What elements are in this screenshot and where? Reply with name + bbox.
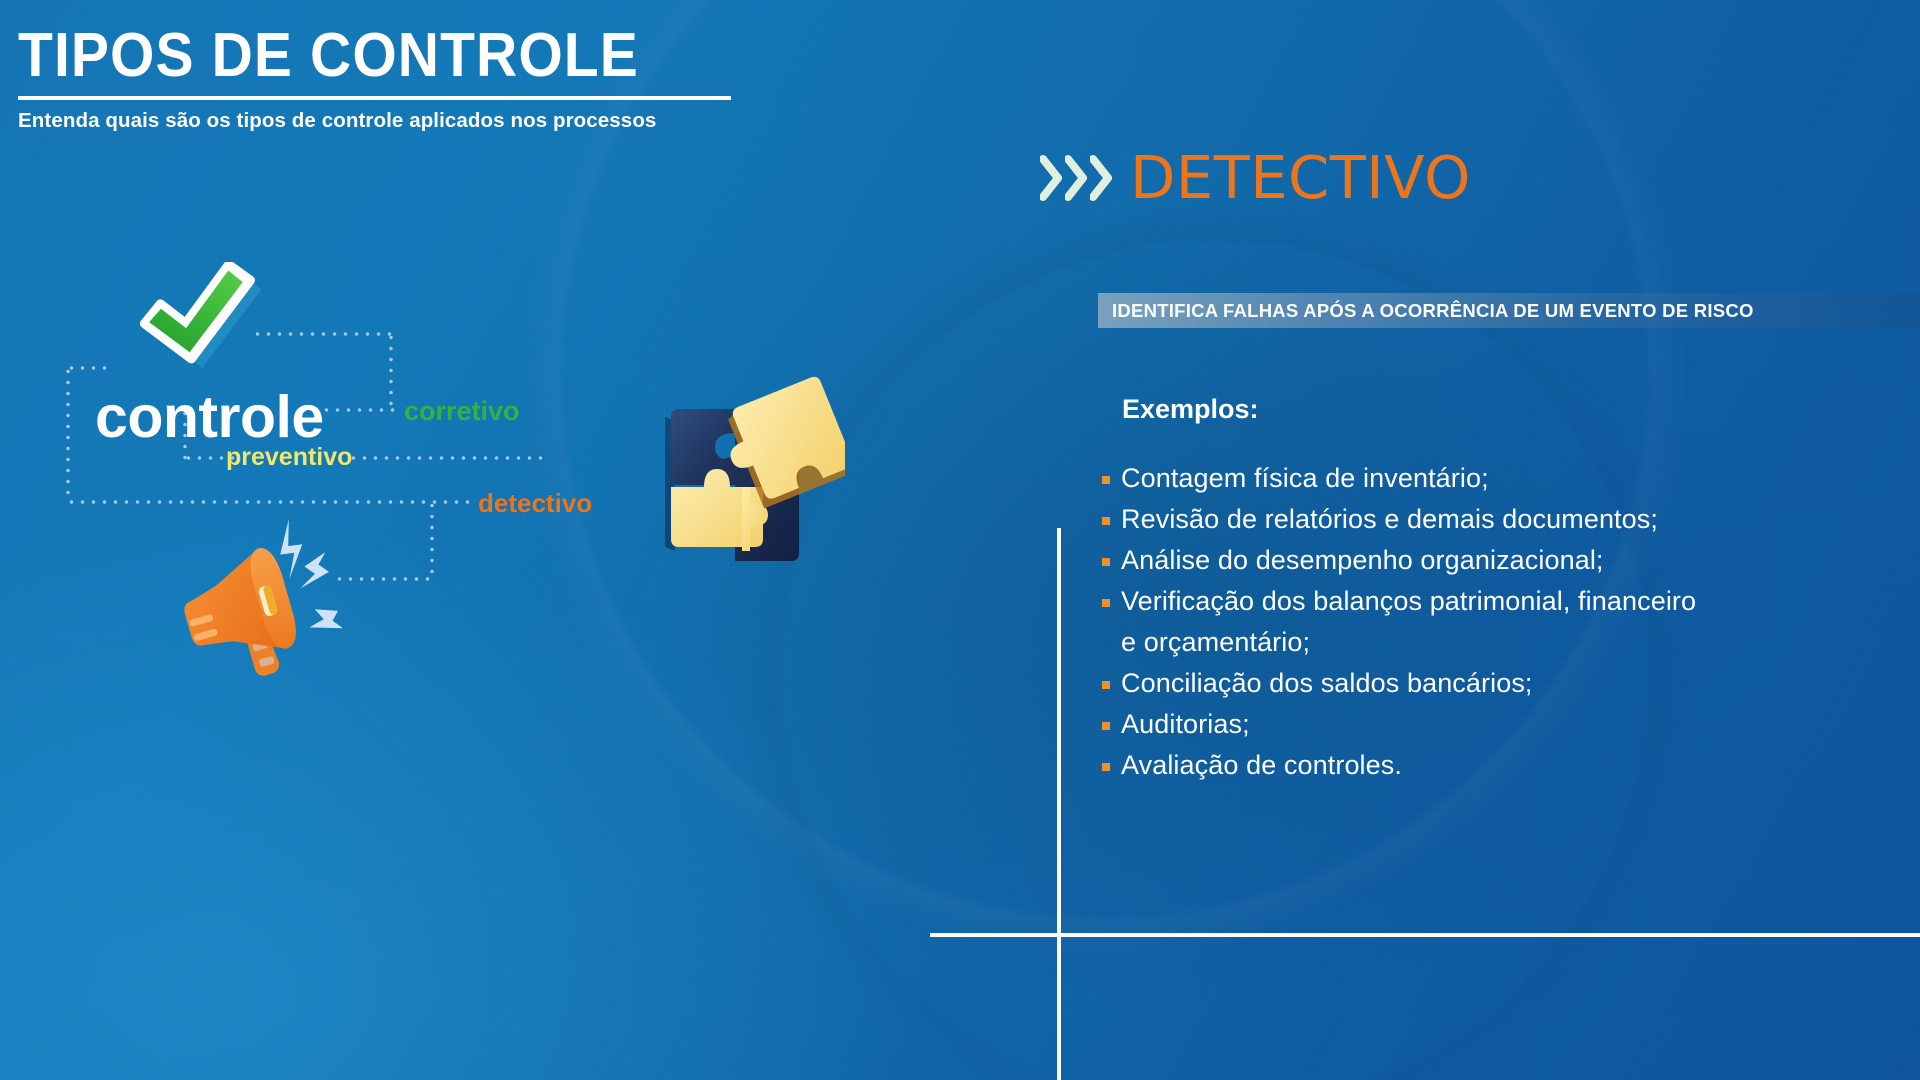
section-banner-text: IDENTIFICA FALHAS APÓS A OCORRÊNCIA DE U… <box>1098 300 1754 322</box>
examples-label: Exemplos: <box>1122 394 1259 425</box>
section-banner: IDENTIFICA FALHAS APÓS A OCORRÊNCIA DE U… <box>1098 293 1920 328</box>
double-chevron-right-icon <box>1040 155 1112 201</box>
bullet-square-icon <box>1102 517 1110 525</box>
megaphone-icon <box>160 520 360 680</box>
list-item: Verificação dos balanços patrimonial, fi… <box>1102 584 1902 618</box>
diagram-label-preventivo: preventivo <box>226 443 352 472</box>
horizontal-divider <box>930 933 1920 937</box>
puzzle-pieces-icon <box>645 365 845 565</box>
list-item: Conciliação dos saldos bancários; <box>1102 666 1902 700</box>
diagram-label-detectivo: detectivo <box>478 488 592 519</box>
slide: TIPOS DE CONTROLE Entenda quais são os t… <box>0 0 1920 1080</box>
list-item: e orçamentário; <box>1102 625 1902 659</box>
connector-dots <box>252 332 392 336</box>
list-item: Auditorias; <box>1102 707 1902 741</box>
list-item-label: e orçamentário; <box>1121 625 1310 659</box>
bullet-square-icon <box>1102 722 1110 730</box>
list-item: Avaliação de controles. <box>1102 748 1902 782</box>
diagram-label-controle: controle <box>95 383 324 451</box>
title-underline <box>18 96 731 100</box>
diagram-label-corretivo: corretivo <box>404 396 520 427</box>
page-title: TIPOS DE CONTROLE <box>18 24 846 88</box>
connector-dots <box>389 332 393 410</box>
bullet-square-icon <box>1102 681 1110 689</box>
section-heading-group: DETECTIVO <box>1040 148 1471 207</box>
list-item-label: Contagem física de inventário; <box>1121 461 1489 495</box>
list-item-label: Verificação dos balanços patrimonial, fi… <box>1121 584 1696 618</box>
list-item-label: Revisão de relatórios e demais documento… <box>1121 502 1658 536</box>
connector-dots <box>348 456 546 460</box>
vertical-divider <box>1057 528 1061 1080</box>
check-mark-icon <box>128 262 268 372</box>
list-item-label: Análise do desempenho organizacional; <box>1121 543 1604 577</box>
list-item: Análise do desempenho organizacional; <box>1102 543 1902 577</box>
bullet-square-icon <box>1102 763 1110 771</box>
connector-dots <box>66 500 476 504</box>
list-item-label: Avaliação de controles. <box>1121 748 1402 782</box>
header: TIPOS DE CONTROLE Entenda quais são os t… <box>18 24 918 133</box>
list-item-label: Auditorias; <box>1121 707 1250 741</box>
section-title: DETECTIVO <box>1130 148 1471 207</box>
connector-dots <box>430 500 434 580</box>
list-item: Revisão de relatórios e demais documento… <box>1102 502 1902 536</box>
control-types-diagram: controle corretivo preventivo detectivo <box>0 150 900 930</box>
examples-list: Contagem física de inventário;Revisão de… <box>1102 461 1902 789</box>
bullet-square-icon <box>1102 599 1110 607</box>
bullet-square-icon <box>1102 476 1110 484</box>
connector-dots <box>66 366 106 370</box>
list-item: Contagem física de inventário; <box>1102 461 1902 495</box>
list-item-label: Conciliação dos saldos bancários; <box>1121 666 1533 700</box>
bullet-square-icon <box>1102 558 1110 566</box>
page-subtitle: Entenda quais são os tipos de controle a… <box>18 109 918 133</box>
connector-dots <box>66 366 70 502</box>
